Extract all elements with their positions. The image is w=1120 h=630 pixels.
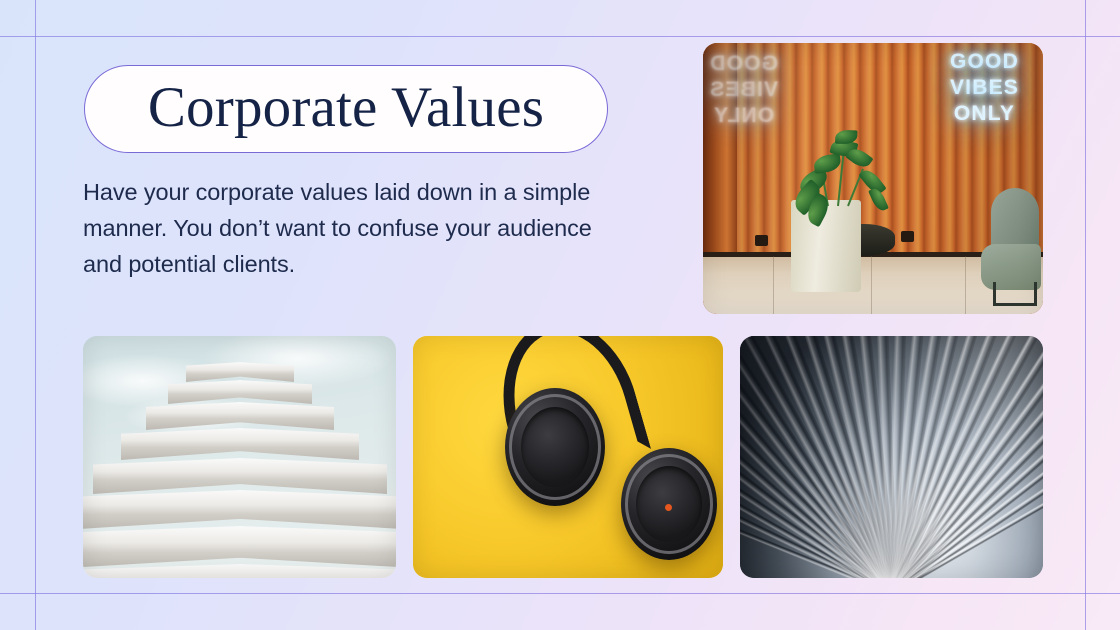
louvre-scene	[740, 336, 1043, 578]
guide-line-bottom	[0, 593, 1120, 594]
headphone-earcup-rim-left	[509, 394, 601, 500]
floor-tile-line	[773, 256, 774, 314]
neon-reflect-line2: VIBES	[709, 77, 778, 103]
photo-headphones[interactable]	[413, 336, 723, 578]
wall-outlet-left	[755, 235, 768, 246]
guide-line-top	[0, 36, 1120, 37]
slide-canvas: Corporate Values Have your corporate val…	[0, 0, 1120, 630]
guide-line-right	[1085, 0, 1086, 630]
headphone-indicator-dot	[665, 504, 672, 511]
headphones-scene	[413, 336, 723, 578]
photo-white-building[interactable]	[83, 336, 396, 578]
neon-line1: GOOD	[950, 49, 1019, 75]
chair-frame	[993, 282, 1037, 306]
neon-line2: VIBES	[950, 75, 1019, 101]
page-title: Corporate Values	[148, 79, 544, 140]
floor-tile-line	[871, 256, 872, 314]
neon-reflect-line1: GOOD	[709, 51, 778, 77]
guide-line-left	[35, 0, 36, 630]
neon-line3: ONLY	[950, 101, 1019, 127]
louvre-shading	[740, 336, 1043, 578]
photo-louvred-curve[interactable]	[740, 336, 1043, 578]
armchair	[979, 188, 1041, 306]
building-scene	[83, 336, 396, 578]
body-paragraph: Have your corporate values laid down in …	[83, 174, 603, 282]
neon-sign: GOOD VIBES ONLY	[950, 49, 1019, 127]
neon-reflect-line3: ONLY	[709, 103, 778, 129]
office-scene: GOOD VIBES ONLY GOOD VIBES ONLY	[703, 43, 1043, 314]
floor-tile-line	[965, 256, 966, 314]
photo-office-neon[interactable]: GOOD VIBES ONLY GOOD VIBES ONLY	[703, 43, 1043, 314]
neon-sign-reflection: GOOD VIBES ONLY	[709, 51, 778, 129]
wall-outlet-right	[901, 231, 914, 242]
title-pill[interactable]: Corporate Values	[84, 65, 608, 153]
